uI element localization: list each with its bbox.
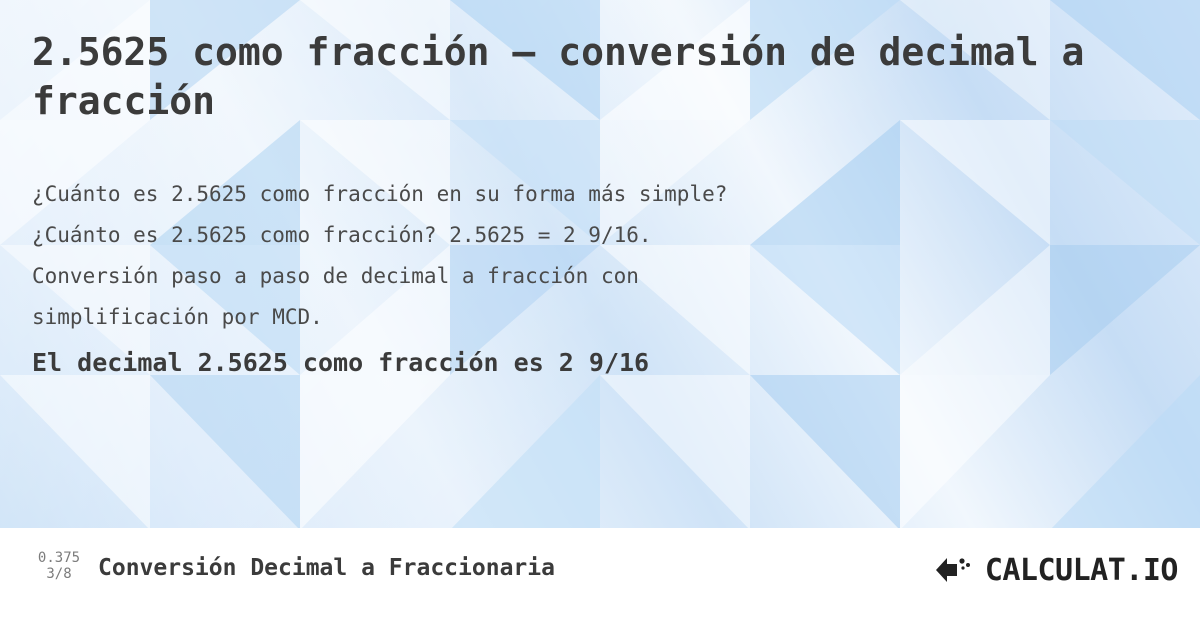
page-title: 2.5625 como fracción – conversión de dec… bbox=[32, 28, 1152, 126]
fraction-logo-decimal: 0.375 bbox=[28, 550, 90, 566]
description-line: simplificación por MCD. bbox=[32, 297, 1132, 338]
brand-logo[interactable]: CALCULAT.IO bbox=[933, 550, 1178, 590]
footer: 0.375 3/8 Conversión Decimal a Fracciona… bbox=[0, 528, 1200, 630]
footer-section-title: Conversión Decimal a Fraccionaria bbox=[98, 555, 555, 581]
description-line: ¿Cuánto es 2.5625 como fracción? 2.5625 … bbox=[32, 215, 1132, 256]
description-line: ¿Cuánto es 2.5625 como fracción en su fo… bbox=[32, 174, 1132, 215]
answer-statement: El decimal 2.5625 como fracción es 2 9/1… bbox=[32, 348, 649, 377]
fraction-logo-icon: 0.375 3/8 bbox=[28, 550, 90, 582]
brand-name: CALCULAT.IO bbox=[985, 553, 1178, 588]
og-image-card: 2.5625 como fracción – conversión de dec… bbox=[0, 0, 1200, 630]
calculator-mouse-icon bbox=[933, 552, 977, 588]
page-description: ¿Cuánto es 2.5625 como fracción en su fo… bbox=[32, 174, 1132, 338]
description-line: Conversión paso a paso de decimal a frac… bbox=[32, 256, 1132, 297]
fraction-logo-fraction: 3/8 bbox=[28, 566, 90, 582]
